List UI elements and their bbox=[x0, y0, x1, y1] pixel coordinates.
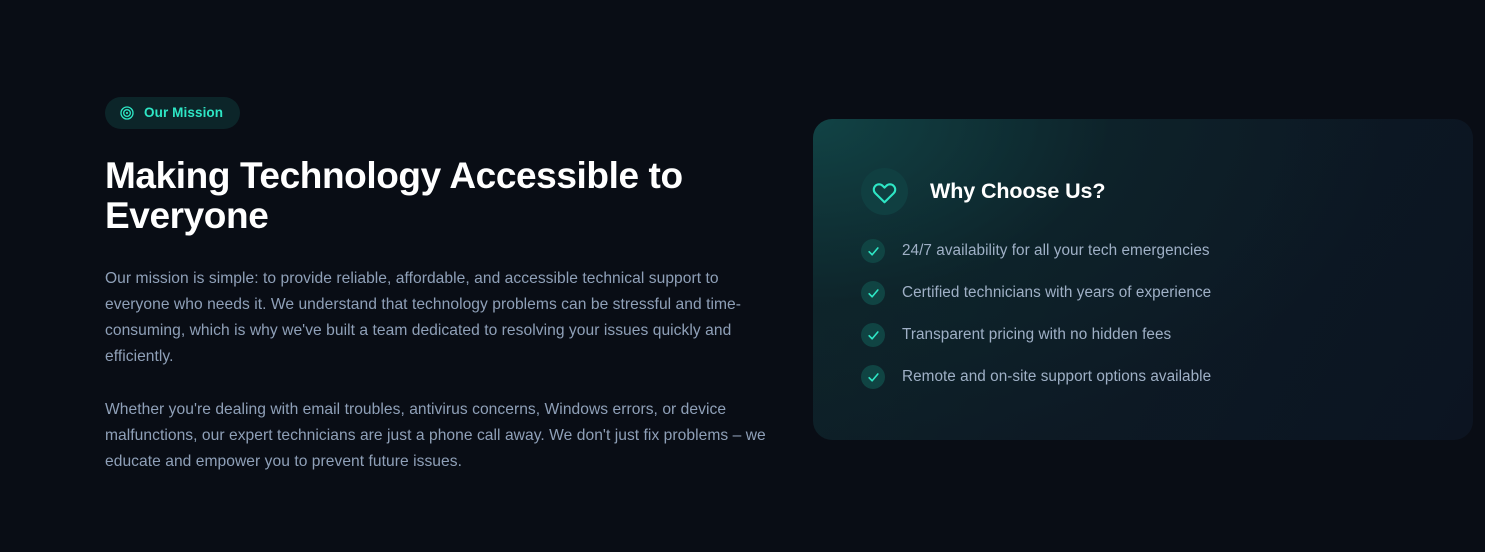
card-title: Why Choose Us? bbox=[930, 179, 1105, 204]
feature-label: Remote and on-site support options avail… bbox=[902, 365, 1211, 389]
check-icon bbox=[867, 287, 880, 300]
page-title: Making Technology Accessible to Everyone bbox=[105, 156, 745, 237]
heart-icon bbox=[872, 179, 897, 204]
check-icon-badge bbox=[861, 281, 885, 305]
check-icon-badge bbox=[861, 323, 885, 347]
list-item: Certified technicians with years of expe… bbox=[861, 281, 1433, 305]
check-icon bbox=[867, 245, 880, 258]
mission-content: Our Mission Making Technology Accessible… bbox=[105, 97, 775, 475]
heart-icon-badge bbox=[861, 168, 908, 215]
check-icon bbox=[867, 371, 880, 384]
check-icon-badge bbox=[861, 239, 885, 263]
mission-paragraph-1: Our mission is simple: to provide reliab… bbox=[105, 266, 767, 370]
feature-list: 24/7 availability for all your tech emer… bbox=[861, 239, 1433, 389]
list-item: 24/7 availability for all your tech emer… bbox=[861, 239, 1433, 263]
feature-label: Transparent pricing with no hidden fees bbox=[902, 323, 1171, 347]
target-icon bbox=[119, 105, 135, 121]
mission-paragraph-2: Whether you're dealing with email troubl… bbox=[105, 397, 767, 475]
mission-badge: Our Mission bbox=[105, 97, 240, 129]
why-choose-us-card: Why Choose Us? 24/7 availability for all… bbox=[813, 119, 1473, 440]
mission-badge-label: Our Mission bbox=[144, 106, 223, 120]
feature-label: Certified technicians with years of expe… bbox=[902, 281, 1211, 305]
check-icon bbox=[867, 329, 880, 342]
list-item: Remote and on-site support options avail… bbox=[861, 365, 1433, 389]
check-icon-badge bbox=[861, 365, 885, 389]
list-item: Transparent pricing with no hidden fees bbox=[861, 323, 1433, 347]
mission-section: Our Mission Making Technology Accessible… bbox=[0, 0, 1485, 552]
card-header: Why Choose Us? bbox=[861, 168, 1105, 215]
feature-label: 24/7 availability for all your tech emer… bbox=[902, 239, 1210, 263]
